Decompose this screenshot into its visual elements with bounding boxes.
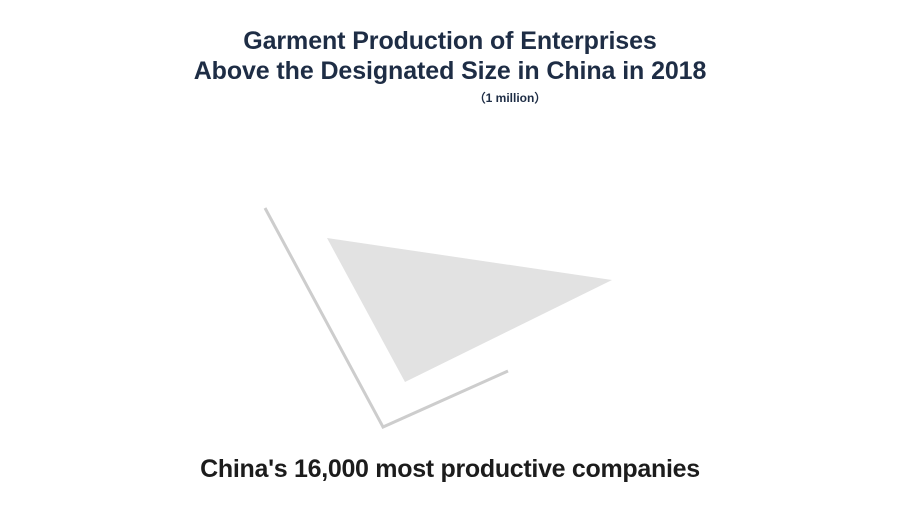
plot-area bbox=[0, 0, 900, 506]
area-wedge-shape bbox=[327, 238, 612, 382]
plot-svg bbox=[0, 0, 900, 506]
chart-canvas: Garment Production of Enterprises Above … bbox=[0, 0, 900, 506]
chart-caption-text: China's 16,000 most productive companies bbox=[200, 453, 700, 485]
chart-caption: China's 16,000 most productive companies bbox=[0, 453, 900, 485]
